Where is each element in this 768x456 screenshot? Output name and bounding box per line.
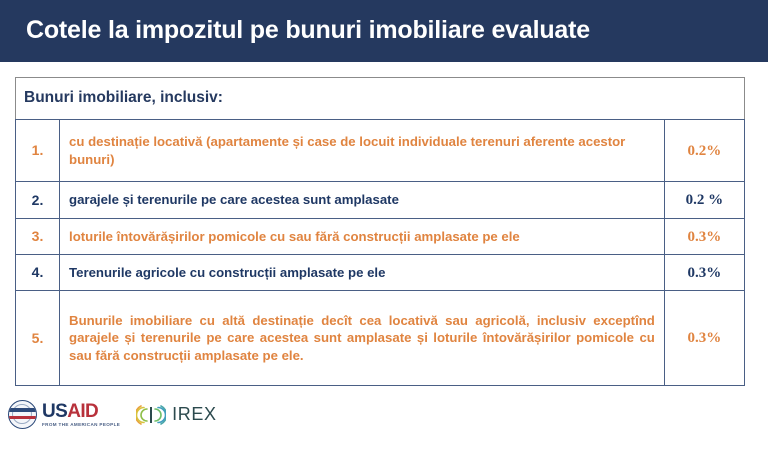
table-header-row: Bunuri imobiliare, inclusiv: (16, 78, 745, 120)
row-description-cell: loturile întovărășirilor pomicole cu sau… (60, 219, 665, 255)
table-row: 1. cu destinație locativă (apartamente ș… (16, 120, 745, 182)
row-description: Terenurile agricole cu construcții ampla… (69, 264, 655, 281)
table-header-label: Bunuri imobiliare, inclusiv: (24, 89, 744, 106)
row-description-cell: Bunurile imobiliare cu altă destinație d… (60, 291, 665, 386)
page-title: Cotele la impozitul pe bunuri imobiliare… (0, 17, 590, 45)
row-rate-cell: 0.3% (664, 291, 744, 386)
row-rate: 0.2% (665, 142, 744, 160)
row-number: 2. (16, 192, 59, 209)
footer-logos: USAID FROM THE AMERICAN PEOPLE IREX (8, 400, 217, 429)
irex-name: IREX (172, 404, 216, 425)
row-description: Bunurile imobiliare cu altă destinație d… (69, 312, 655, 364)
row-description-cell: Terenurile agricole cu construcții ampla… (60, 255, 665, 291)
row-number: 1. (16, 142, 59, 159)
table-row: 4. Terenurile agricole cu construcții am… (16, 255, 745, 291)
row-rate-cell: 0.2% (664, 120, 744, 182)
table-row: 5. Bunurile imobiliare cu altă destinați… (16, 291, 745, 386)
usaid-name: USAID (42, 402, 120, 421)
usaid-wordmark: USAID FROM THE AMERICAN PEOPLE (42, 402, 120, 428)
row-number-cell: 4. (16, 255, 60, 291)
row-rate-cell: 0.3% (664, 255, 744, 291)
usaid-seal-icon (8, 400, 37, 429)
row-description-cell: garajele și terenurile pe care acestea s… (60, 182, 665, 219)
usaid-logo: USAID FROM THE AMERICAN PEOPLE (8, 400, 120, 429)
row-rate: 0.3% (665, 329, 744, 347)
row-description: loturile întovărășirilor pomicole cu sau… (69, 228, 655, 245)
row-rate: 0.2 % (665, 191, 744, 209)
row-number: 5. (16, 330, 59, 347)
row-number-cell: 2. (16, 182, 60, 219)
irex-arcs-icon (136, 402, 166, 428)
slide-title-bar: Cotele la impozitul pe bunuri imobiliare… (0, 0, 768, 62)
table-row: 3. loturile întovărășirilor pomicole cu … (16, 219, 745, 255)
row-description: garajele și terenurile pe care acestea s… (69, 191, 655, 208)
row-number-cell: 3. (16, 219, 60, 255)
rates-table: Bunuri imobiliare, inclusiv: 1. cu desti… (15, 77, 745, 386)
rates-table-container: Bunuri imobiliare, inclusiv: 1. cu desti… (15, 77, 745, 386)
row-rate-cell: 0.3% (664, 219, 744, 255)
table-row: 2. garajele și terenurile pe care aceste… (16, 182, 745, 219)
row-rate: 0.3% (665, 264, 744, 282)
row-rate-cell: 0.2 % (664, 182, 744, 219)
irex-logo: IREX (136, 402, 216, 428)
row-description-cell: cu destinație locativă (apartamente și c… (60, 120, 665, 182)
row-number-cell: 1. (16, 120, 60, 182)
table-header-cell: Bunuri imobiliare, inclusiv: (16, 78, 745, 120)
row-rate: 0.3% (665, 228, 744, 246)
usaid-name-aid: AID (67, 401, 98, 422)
usaid-tagline: FROM THE AMERICAN PEOPLE (42, 423, 120, 428)
row-number: 4. (16, 264, 59, 281)
row-number-cell: 5. (16, 291, 60, 386)
row-description: cu destinație locativă (apartamente și c… (69, 133, 655, 168)
usaid-name-us: US (42, 401, 67, 422)
row-number: 3. (16, 228, 59, 245)
